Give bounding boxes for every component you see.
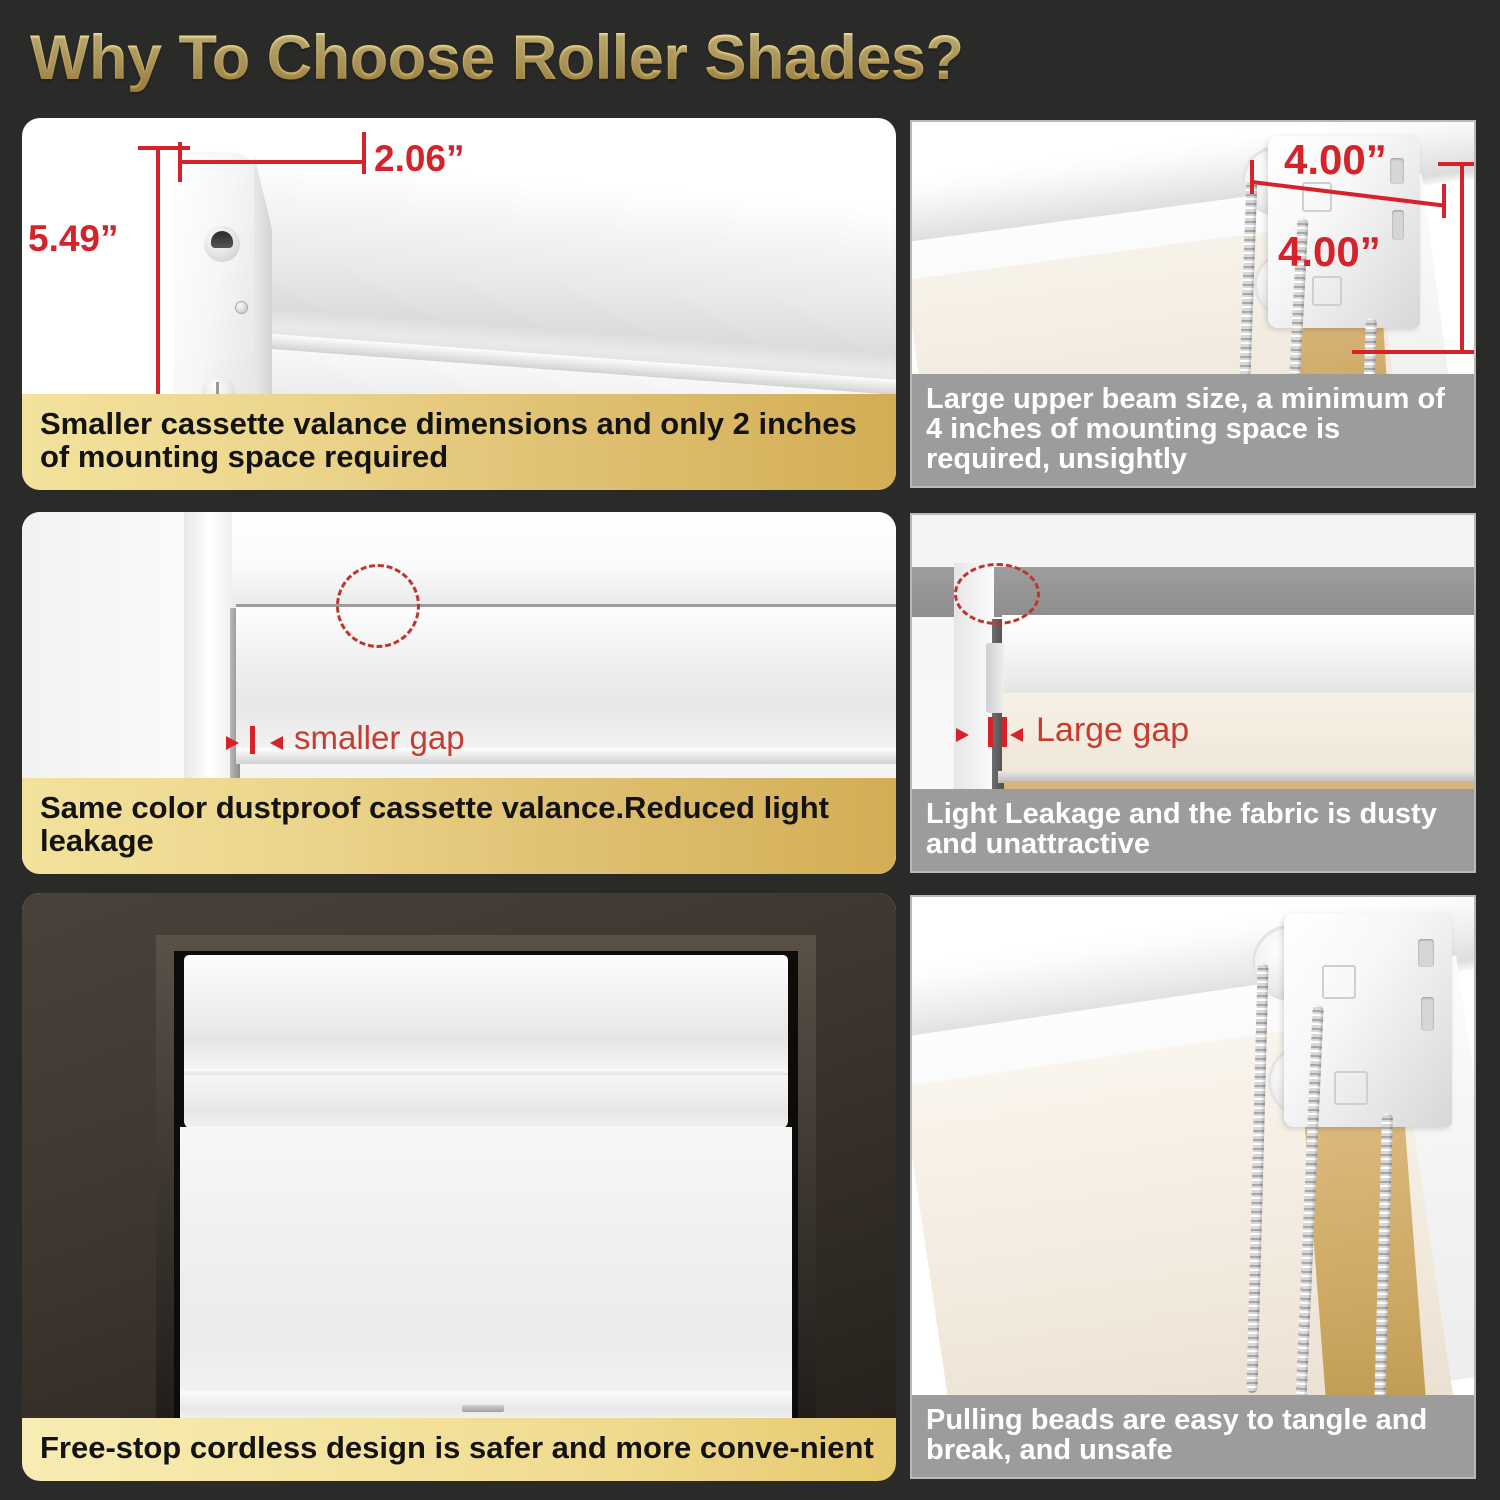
gap-label: smaller gap [294, 719, 465, 757]
gap-tick [250, 726, 255, 754]
panel-con-light-leakage: Large gap Light Leakage and the fabric i… [910, 513, 1476, 873]
bracket-slot-upper [1390, 158, 1404, 184]
screw-icon [235, 301, 248, 314]
gap-arrow-right-icon [270, 736, 283, 750]
panel-pro-cassette-dimensions: 2.06” 5.49” Smaller cassette valance dim… [22, 118, 896, 490]
dimension-label-width: 2.06” [374, 138, 465, 180]
dimension-line-height [1460, 164, 1464, 354]
highlight-circle-annotation [336, 564, 420, 648]
panel-pro-smaller-gap: smaller gap Same color dustproof cassett… [22, 512, 896, 874]
page-title: Why To Choose Roller Shades? [30, 22, 1130, 94]
room-photo-cordless-shade [22, 893, 896, 1481]
dimension-tick-top [1438, 162, 1474, 166]
dimension-tick-bottom [1352, 350, 1474, 354]
caption-con-pull-beads: Pulling beads are easy to tangle and bre… [912, 1395, 1474, 1477]
bracket-marking-lower [1334, 1071, 1368, 1105]
bracket-slot-lower [1392, 210, 1404, 240]
product-photo-pull-beads [912, 897, 1474, 1477]
gap-arrow-left-icon [226, 736, 239, 750]
shade-fabric-shape [180, 1127, 792, 1409]
cassette-valance-shape [184, 955, 788, 1075]
dimension-line-width [180, 160, 366, 164]
caption-pro-smaller-gap: Same color dustproof cassette valance.Re… [22, 778, 896, 874]
caption-pro-cassette-dimensions: Smaller cassette valance dimensions and … [22, 394, 896, 490]
bottom-rail-grip-icon [462, 1405, 504, 1412]
valance-roll-shape [184, 1075, 788, 1129]
panel-pro-cordless: Free-stop cordless design is safer and m… [22, 893, 896, 1481]
dimension-label-height: 5.49” [28, 218, 119, 260]
mounting-clip-shape [986, 643, 1004, 713]
headrail-white-shape [1002, 615, 1476, 699]
caption-con-large-beam: Large upper beam size, a minimum of 4 in… [912, 374, 1474, 486]
gap-tick-right [1002, 717, 1007, 747]
bracket-marking-lower [1312, 276, 1342, 306]
dimension-label-height: 4.00” [1278, 228, 1381, 276]
dimension-tick-top [138, 146, 190, 150]
panel-con-pull-beads: Pulling beads are easy to tangle and bre… [910, 895, 1476, 1479]
dimension-tick-left [1250, 160, 1254, 194]
dimension-tick-right [362, 132, 366, 174]
panel-con-large-beam: 4.00” 4.00” Large upper beam size, a min… [910, 120, 1476, 488]
dimension-label-width: 4.00” [1284, 136, 1387, 184]
bracket-knob-icon [204, 226, 240, 262]
gap-arrow-right-icon [1010, 728, 1023, 742]
bracket-slot-upper [1418, 939, 1434, 967]
highlight-circle-annotation [954, 563, 1040, 625]
bracket-marking-upper [1322, 965, 1356, 999]
caption-con-light-leakage: Light Leakage and the fabric is dusty an… [912, 789, 1474, 871]
window-frame-top [184, 512, 896, 608]
gap-tick-left [988, 717, 993, 747]
caption-pro-cordless: Free-stop cordless design is safer and m… [22, 1418, 896, 1481]
gap-label: Large gap [1036, 711, 1189, 750]
dimension-tick-right [1442, 184, 1446, 218]
bracket-slot-lower [1421, 997, 1434, 1031]
gap-arrow-left-icon [956, 728, 969, 742]
